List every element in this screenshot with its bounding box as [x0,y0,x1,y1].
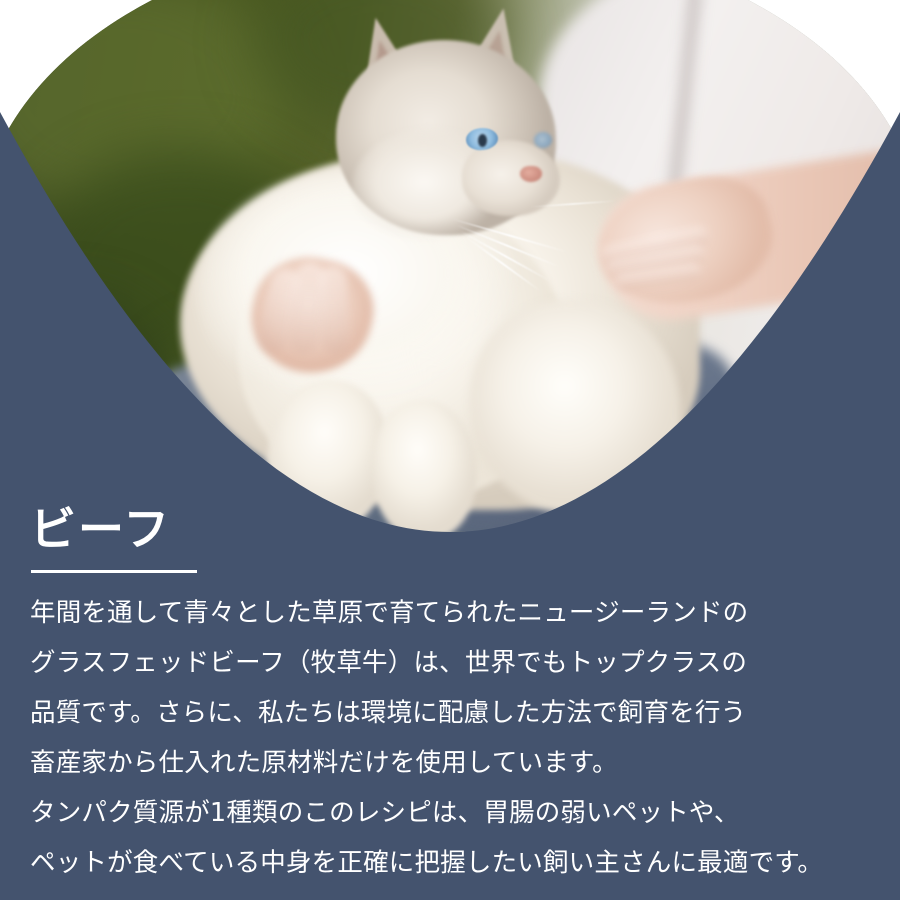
description-line: タンパク質源が1種類のこのレシピは、胃腸の弱いペットや、 [30,788,880,838]
title-underline [31,570,197,573]
description-line: ペットが食べている中身を正確に把握したい飼い主さんに最適です。 [30,838,880,888]
product-description-card: ビーフ 年間を通して青々とした草原で育てられたニュージーランドの グラスフェッド… [0,0,900,900]
description-line: 年間を通して青々とした草原で育てられたニュージーランドの [30,588,880,638]
description-body: 年間を通して青々とした草原で育てられたニュージーランドの グラスフェッドビーフ（… [30,588,880,888]
description-line: 畜産家から仕入れた原材料だけを使用しています。 [30,738,880,788]
description-line: 品質です。さらに、私たちは環境に配慮した方法で飼育を行う [30,688,880,738]
description-content: ビーフ 年間を通して青々とした草原で育てられたニュージーランドの グラスフェッド… [0,0,900,900]
page-title: ビーフ [30,506,171,552]
description-line: グラスフェッドビーフ（牧草牛）は、世界でもトップクラスの [30,638,880,688]
